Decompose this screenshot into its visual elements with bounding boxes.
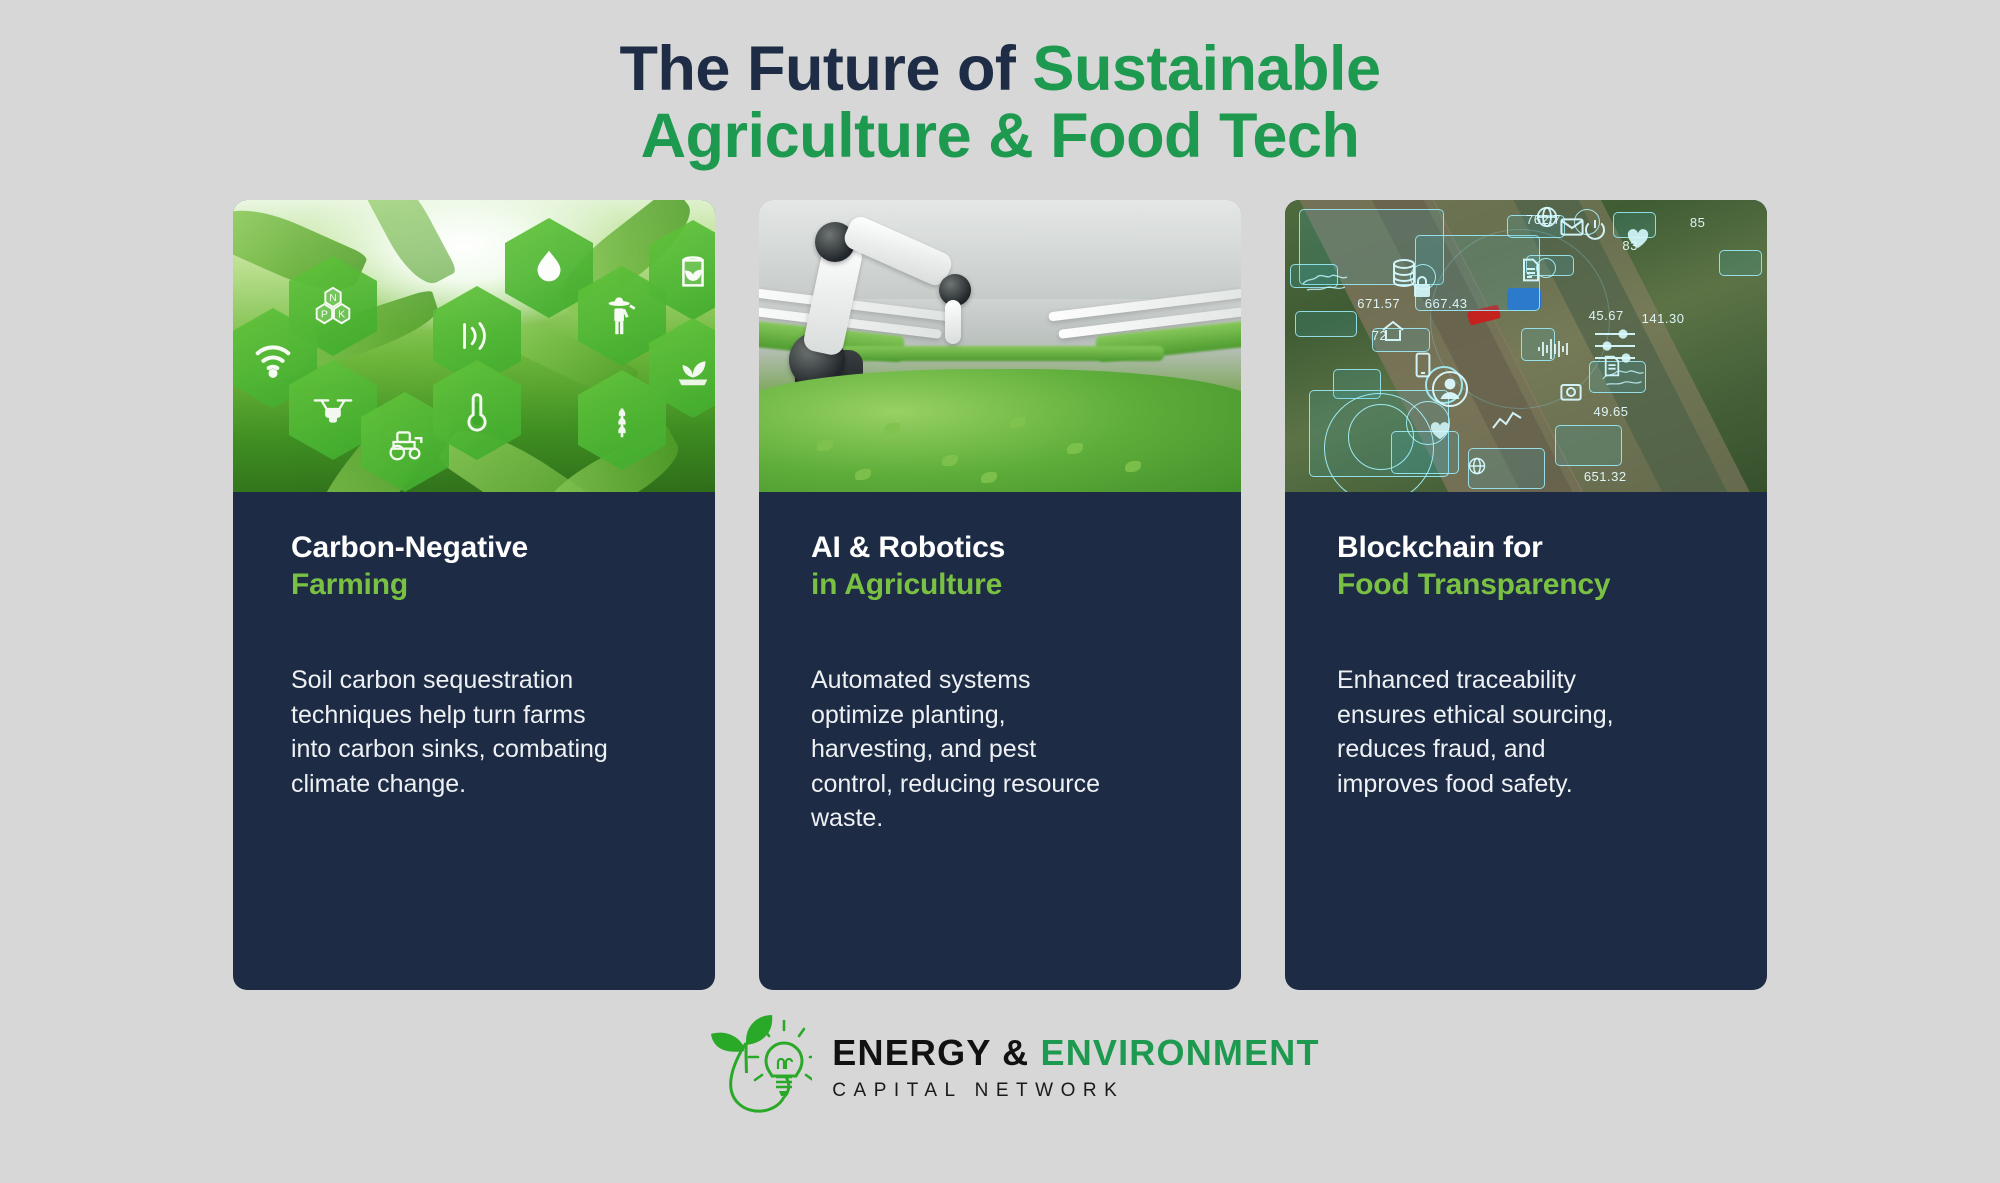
- card-3-description: Enhanced traceability ensures ethical so…: [1337, 663, 1637, 801]
- card-1-body: Carbon-Negative Farming Soil carbon sequ…: [233, 492, 715, 801]
- leaf-lightbulb-icon: [680, 1013, 812, 1123]
- page-title-part-dark: The Future of: [619, 34, 1032, 104]
- card-2-image: [759, 200, 1241, 492]
- card-2-body: AI & Robotics in Agriculture Automated s…: [759, 492, 1241, 836]
- mail-icon: [1560, 218, 1584, 236]
- brand-logo[interactable]: ENERGY & ENVIRONMENT CAPITAL NETWORK: [0, 1013, 2000, 1123]
- card-1-title-white: Carbon-Negative: [291, 530, 671, 567]
- card-2-title-white: AI & Robotics: [811, 530, 1197, 567]
- waveform-icon: [1536, 337, 1572, 361]
- card-3-image: 762.7 667.43 671.57 141.30 45.67 49.65 7…: [1285, 200, 1767, 492]
- user-profile-icon: [1430, 369, 1470, 409]
- page-title: The Future of Sustainable Agriculture & …: [0, 36, 2000, 171]
- card-blockchain-food-transparency[interactable]: 762.7 667.43 671.57 141.30 45.67 49.65 7…: [1285, 200, 1767, 990]
- camera-icon: [1560, 381, 1582, 401]
- card-2-description: Automated systems optimize planting, har…: [811, 663, 1121, 836]
- document-icon: [1521, 258, 1541, 282]
- hud-number: 651.32: [1584, 469, 1627, 484]
- card-3-body: Blockchain for Food Transparency Enhance…: [1285, 492, 1767, 801]
- card-1-description: Soil carbon sequestration techniques hel…: [291, 663, 621, 801]
- brand-name-line-1: ENERGY & ENVIRONMENT: [832, 1034, 1319, 1072]
- heart-rate-icon: [1627, 229, 1649, 249]
- line-chart-icon: [1492, 410, 1522, 432]
- card-3-title-green: Food Transparency: [1337, 567, 1723, 604]
- hud-number: 49.65: [1593, 404, 1628, 419]
- svg-text:N: N: [329, 292, 337, 304]
- lock-icon: [1410, 273, 1434, 299]
- brand-name-energy: ENERGY &: [832, 1032, 1040, 1073]
- card-1-title-green: Farming: [291, 567, 671, 604]
- world-map-icon: [1299, 270, 1355, 296]
- page-title-part-green-2: Agriculture & Food Tech: [0, 103, 2000, 170]
- hud-number: 141.30: [1642, 311, 1685, 326]
- hud-number: 85: [1690, 215, 1705, 230]
- brand-name-environment: ENVIRONMENT: [1040, 1032, 1319, 1073]
- card-3-title-white: Blockchain for: [1337, 530, 1723, 567]
- card-grid: N P K: [233, 200, 1767, 990]
- brand-tagline: CAPITAL NETWORK: [832, 1080, 1319, 1102]
- power-icon: [1584, 218, 1606, 240]
- card-2-title: AI & Robotics in Agriculture: [811, 530, 1197, 603]
- card-carbon-negative-farming[interactable]: N P K: [233, 200, 715, 990]
- card-ai-robotics-agriculture[interactable]: AI & Robotics in Agriculture Automated s…: [759, 200, 1241, 990]
- brand-wordmark: ENERGY & ENVIRONMENT CAPITAL NETWORK: [832, 1034, 1319, 1103]
- heart-rate-icon: [1430, 422, 1450, 440]
- world-map-icon: [1598, 366, 1652, 390]
- hud-number: 671.57: [1357, 296, 1400, 311]
- card-3-title: Blockchain for Food Transparency: [1337, 530, 1723, 603]
- svg-text:K: K: [338, 309, 345, 321]
- card-1-title: Carbon-Negative Farming: [291, 530, 671, 603]
- home-icon: [1381, 320, 1405, 342]
- hud-number: 45.67: [1589, 308, 1624, 323]
- card-1-image: N P K: [233, 200, 715, 492]
- page-title-part-green-1: Sustainable: [1032, 34, 1380, 104]
- hex-icon-cluster: N P K: [233, 200, 715, 492]
- svg-text:P: P: [321, 309, 328, 321]
- globe-icon: [1468, 457, 1486, 475]
- mobile-phone-icon: [1415, 352, 1431, 378]
- card-2-title-green: in Agriculture: [811, 567, 1197, 604]
- globe-icon: [1536, 206, 1558, 228]
